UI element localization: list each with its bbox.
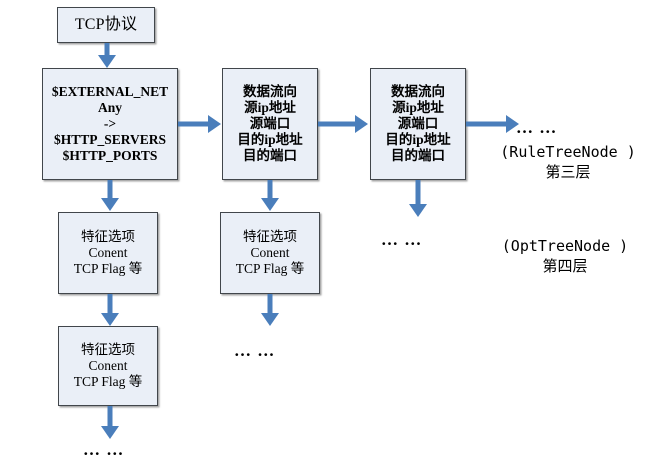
arrow-flow-b-to-more <box>466 112 522 136</box>
diagram-canvas: TCP协议 $EXTERNAL_NET Any -> $HTTP_SERVERS… <box>0 0 647 462</box>
node-option-a2: 特征选项 Conent TCP Flag 等 <box>58 326 158 406</box>
node-flow-a: 数据流向 源ip地址 源端口 目的ip地址 目的端口 <box>222 68 318 180</box>
arrow-flow-a-to-opt-b1 <box>250 180 290 212</box>
node-flow-b: 数据流向 源ip地址 源端口 目的ip地址 目的端口 <box>370 68 466 180</box>
arrow-rule-header-to-flow-a <box>178 112 222 136</box>
arrow-head <box>261 198 279 211</box>
node-option-a1-text: 特征选项 Conent TCP Flag 等 <box>59 229 157 277</box>
tier-label-rule-tree-node-level: 第三层 <box>498 162 638 182</box>
arrow-flow-a-to-flow-b <box>318 112 370 136</box>
arrow-shaft <box>268 180 273 200</box>
arrow-opt-b1-to-more <box>250 294 290 327</box>
node-rule-header: $EXTERNAL_NET Any -> $HTTP_SERVERS $HTTP… <box>42 68 178 180</box>
arrow-head <box>101 313 119 326</box>
arrow-opt-a1-to-opt-a2 <box>90 294 130 327</box>
arrow-tcp-to-rule-header <box>87 43 127 68</box>
tier-label-opt-tree-node-name: (OptTreeNode ) <box>490 236 640 256</box>
ellipsis-right-of-flow-b: … … <box>516 118 557 138</box>
arrow-head <box>98 55 116 68</box>
arrow-shaft <box>416 180 421 206</box>
node-tcp-protocol: TCP协议 <box>57 7 155 43</box>
arrow-head <box>409 204 427 217</box>
node-flow-b-text: 数据流向 源ip地址 源端口 目的ip地址 目的端口 <box>371 84 465 164</box>
arrow-head <box>208 115 221 133</box>
arrow-flow-b-to-more-below <box>398 180 438 218</box>
arrow-shaft <box>268 294 273 315</box>
arrow-shaft <box>108 294 113 315</box>
tier-label-rule-tree-node: (RuleTreeNode ) 第三层 <box>498 142 638 183</box>
ellipsis-below-opt-a2: … … <box>83 440 124 460</box>
node-option-a1: 特征选项 Conent TCP Flag 等 <box>58 212 158 294</box>
node-flow-a-text: 数据流向 源ip地址 源端口 目的ip地址 目的端口 <box>223 84 317 164</box>
arrow-head <box>355 115 368 133</box>
node-option-b1: 特征选项 Conent TCP Flag 等 <box>220 212 320 294</box>
arrow-shaft <box>108 406 113 428</box>
arrow-head <box>261 313 279 326</box>
tier-label-opt-tree-node: (OptTreeNode ) 第四层 <box>490 236 640 277</box>
arrow-head <box>101 426 119 439</box>
arrow-shaft <box>318 122 358 127</box>
node-option-a2-text: 特征选项 Conent TCP Flag 等 <box>59 342 157 390</box>
tier-label-rule-tree-node-name: (RuleTreeNode ) <box>498 142 638 162</box>
node-tcp-protocol-text: TCP协议 <box>58 16 154 35</box>
node-rule-header-text: $EXTERNAL_NET Any -> $HTTP_SERVERS $HTTP… <box>43 84 177 164</box>
arrow-opt-a2-to-more <box>90 406 130 440</box>
ellipsis-below-flow-b: … … <box>381 230 422 250</box>
node-option-b1-text: 特征选项 Conent TCP Flag 等 <box>221 229 319 277</box>
arrow-rule-header-to-opt-a1 <box>90 180 130 212</box>
arrow-shaft <box>108 180 113 200</box>
arrow-shaft <box>178 122 211 127</box>
ellipsis-below-opt-b1: … … <box>234 341 275 361</box>
arrow-shaft <box>466 122 509 127</box>
tier-label-opt-tree-node-level: 第四层 <box>490 256 640 276</box>
arrow-head <box>101 198 119 211</box>
